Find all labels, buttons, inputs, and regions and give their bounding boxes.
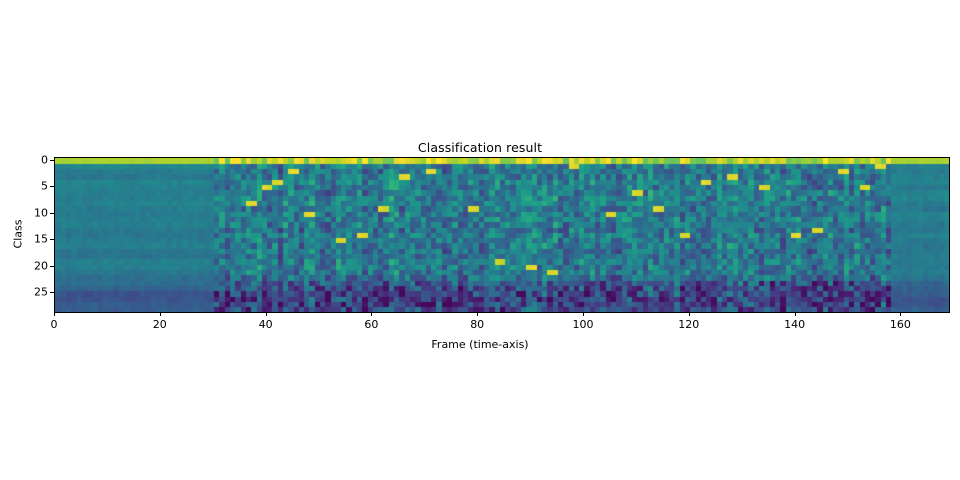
x-tick — [266, 312, 267, 316]
heatmap-image — [55, 158, 949, 312]
x-tick-label: 140 — [784, 318, 805, 331]
y-tick-label: 20 — [34, 259, 48, 272]
x-tick — [900, 312, 901, 316]
y-tick — [50, 266, 54, 267]
x-tick — [160, 312, 161, 316]
y-tick — [50, 239, 54, 240]
y-tick-label: 0 — [41, 153, 48, 166]
y-tick-label: 5 — [41, 180, 48, 193]
x-tick — [371, 312, 372, 316]
x-tick-label: 60 — [364, 318, 378, 331]
x-tick — [583, 312, 584, 316]
x-tick-label: 100 — [572, 318, 593, 331]
x-tick-label: 20 — [153, 318, 167, 331]
figure-canvas: Classification result 020406080100120140… — [0, 0, 960, 480]
x-tick-label: 0 — [51, 318, 58, 331]
x-tick — [54, 312, 55, 316]
chart-title: Classification result — [0, 140, 960, 155]
x-tick-label: 120 — [678, 318, 699, 331]
x-axis-label: Frame (time-axis) — [0, 338, 960, 351]
y-tick — [50, 292, 54, 293]
x-tick — [795, 312, 796, 316]
y-axis-label: Class — [12, 204, 25, 264]
x-tick — [477, 312, 478, 316]
x-tick-label: 80 — [470, 318, 484, 331]
heatmap-axes — [54, 157, 950, 313]
y-tick-label: 10 — [34, 206, 48, 219]
y-tick — [50, 160, 54, 161]
y-tick-label: 15 — [34, 233, 48, 246]
x-tick — [689, 312, 690, 316]
y-tick — [50, 213, 54, 214]
y-tick-label: 25 — [34, 286, 48, 299]
x-tick-label: 160 — [890, 318, 911, 331]
x-tick-label: 40 — [259, 318, 273, 331]
y-tick — [50, 186, 54, 187]
